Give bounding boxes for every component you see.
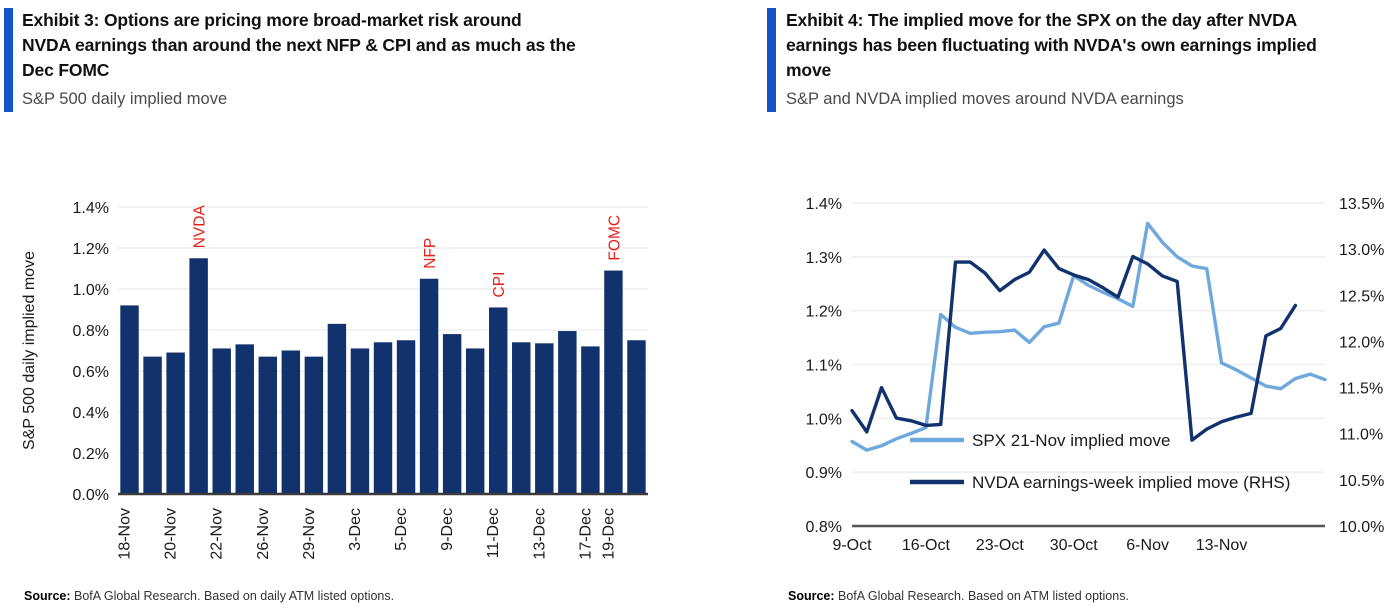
bar xyxy=(489,307,507,494)
bar xyxy=(282,351,300,495)
bar xyxy=(189,258,207,494)
x-axis-tick-label: 6-Nov xyxy=(1126,537,1169,554)
x-axis-tick-label: 9-Dec xyxy=(439,508,456,551)
left-axis-tick-label: 0.9% xyxy=(806,465,842,482)
exhibit-4-header: Exhibit 4: The implied move for the SPX … xyxy=(750,0,1400,111)
bar xyxy=(512,342,530,494)
exhibit-3-title-line-1: Exhibit 3: Options are pricing more broa… xyxy=(22,8,700,33)
bar xyxy=(374,342,392,494)
bar xyxy=(259,357,277,494)
y-axis-tick-label: 0.2% xyxy=(73,446,109,463)
exhibit-4-subtitle: S&P and NVDA implied moves around NVDA e… xyxy=(786,87,1400,111)
left-axis-tick-label: 1.4% xyxy=(806,196,842,213)
x-axis-tick-label: 26-Nov xyxy=(255,508,272,560)
legend-label: NVDA earnings-week implied move (RHS) xyxy=(972,473,1290,492)
right-axis-tick-label: 12.5% xyxy=(1339,288,1384,305)
bar xyxy=(627,340,645,494)
right-axis-tick-label: 10.0% xyxy=(1339,519,1384,536)
x-axis-tick-label: 19-Dec xyxy=(600,508,617,560)
right-axis-tick-label: 13.5% xyxy=(1339,196,1384,213)
source-label-left: Source: xyxy=(24,589,71,603)
exhibit-4-title-line-2: earnings has been fluctuating with NVDA'… xyxy=(786,33,1400,58)
y-axis-tick-label: 1.2% xyxy=(73,241,109,258)
x-axis-tick-label: 30-Oct xyxy=(1050,537,1099,554)
x-axis-tick-label: 17-Dec xyxy=(577,508,594,560)
right-axis-tick-label: 13.0% xyxy=(1339,242,1384,259)
bar xyxy=(212,348,230,494)
bar xyxy=(535,343,553,494)
exhibit-4-panel: Exhibit 4: The implied move for the SPX … xyxy=(750,0,1400,613)
x-axis-tick-label: 16-Oct xyxy=(902,537,951,554)
x-axis-tick-label: 22-Nov xyxy=(209,508,226,560)
right-axis-tick-label: 10.5% xyxy=(1339,473,1384,490)
bar xyxy=(604,271,622,494)
right-axis-tick-label: 11.5% xyxy=(1339,381,1383,398)
x-axis-tick-label: 13-Nov xyxy=(1196,537,1248,554)
bar xyxy=(236,344,254,494)
bar xyxy=(328,324,346,494)
exhibit-3-title-line-2: NVDA earnings than around the next NFP &… xyxy=(22,33,700,58)
line-chart: 0.8%0.9%1.0%1.1%1.2%1.3%1.4%10.0%10.5%11… xyxy=(780,185,1400,575)
accent-bar-right xyxy=(767,8,776,112)
bar xyxy=(351,348,369,494)
bar-annotation: FOMC xyxy=(606,215,623,261)
exhibit-3-title-line-3: Dec FOMC xyxy=(22,58,700,83)
x-axis-tick-label: 29-Nov xyxy=(301,508,318,560)
x-axis-tick-label: 3-Dec xyxy=(347,508,364,551)
bar xyxy=(420,279,438,494)
bar-annotation: NVDA xyxy=(192,205,209,249)
exhibit-3-header: Exhibit 3: Options are pricing more broa… xyxy=(0,0,700,111)
left-axis-tick-label: 1.0% xyxy=(806,411,842,428)
bar xyxy=(581,346,599,494)
bar xyxy=(143,357,161,494)
bar xyxy=(305,357,323,494)
source-text-right: BofA Global Research. Based on ATM liste… xyxy=(835,589,1129,603)
bar xyxy=(166,353,184,494)
exhibit-3-subtitle: S&P 500 daily implied move xyxy=(22,87,700,111)
x-axis-tick-label: 11-Dec xyxy=(485,508,502,558)
right-axis-tick-label: 11.0% xyxy=(1339,427,1383,444)
bar xyxy=(397,340,415,494)
x-axis-tick-label: 13-Dec xyxy=(531,508,548,560)
x-axis-tick-label: 9-Oct xyxy=(832,537,872,554)
left-axis-tick-label: 1.1% xyxy=(806,358,842,375)
y-axis-title: S&P 500 daily implied move xyxy=(21,251,38,450)
y-axis-tick-label: 0.0% xyxy=(73,487,109,504)
bar-chart: 0.0%0.2%0.4%0.6%0.8%1.0%1.2%1.4%S&P 500 … xyxy=(0,185,700,575)
exhibit-3-panel: Exhibit 3: Options are pricing more broa… xyxy=(0,0,700,613)
x-axis-tick-label: 20-Nov xyxy=(163,508,180,560)
bar xyxy=(558,331,576,494)
line-chart-svg: 0.8%0.9%1.0%1.1%1.2%1.3%1.4%10.0%10.5%11… xyxy=(780,185,1400,575)
y-axis-tick-label: 0.8% xyxy=(73,323,109,340)
y-axis-tick-label: 1.4% xyxy=(73,200,109,217)
y-axis-tick-label: 0.6% xyxy=(73,364,109,381)
source-label-right: Source: xyxy=(788,589,835,603)
bar-chart-svg: 0.0%0.2%0.4%0.6%0.8%1.0%1.2%1.4%S&P 500 … xyxy=(0,185,700,575)
x-axis-tick-label: 18-Nov xyxy=(117,508,134,560)
left-axis-tick-label: 1.3% xyxy=(806,250,842,267)
y-axis-tick-label: 1.0% xyxy=(73,282,109,299)
exhibit-3-source: Source: BofA Global Research. Based on d… xyxy=(24,589,394,603)
right-axis-tick-label: 12.0% xyxy=(1339,334,1384,351)
bar-annotation: CPI xyxy=(491,272,508,298)
legend-label: SPX 21-Nov implied move xyxy=(972,431,1170,450)
x-axis-tick-label: 5-Dec xyxy=(393,508,410,551)
left-axis-tick-label: 0.8% xyxy=(806,519,842,536)
exhibit-4-source: Source: BofA Global Research. Based on A… xyxy=(788,589,1129,603)
x-axis-tick-label: 23-Oct xyxy=(976,537,1025,554)
left-axis-tick-label: 1.2% xyxy=(806,304,842,321)
y-axis-tick-label: 0.4% xyxy=(73,405,109,422)
bar xyxy=(120,305,138,494)
accent-bar-left xyxy=(4,8,13,112)
bar xyxy=(443,334,461,494)
bar xyxy=(466,348,484,494)
exhibit-4-title-line-1: Exhibit 4: The implied move for the SPX … xyxy=(786,8,1400,33)
exhibit-4-title-line-3: move xyxy=(786,58,1400,83)
bar-annotation: NFP xyxy=(422,238,439,269)
source-text-left: BofA Global Research. Based on daily ATM… xyxy=(71,589,395,603)
